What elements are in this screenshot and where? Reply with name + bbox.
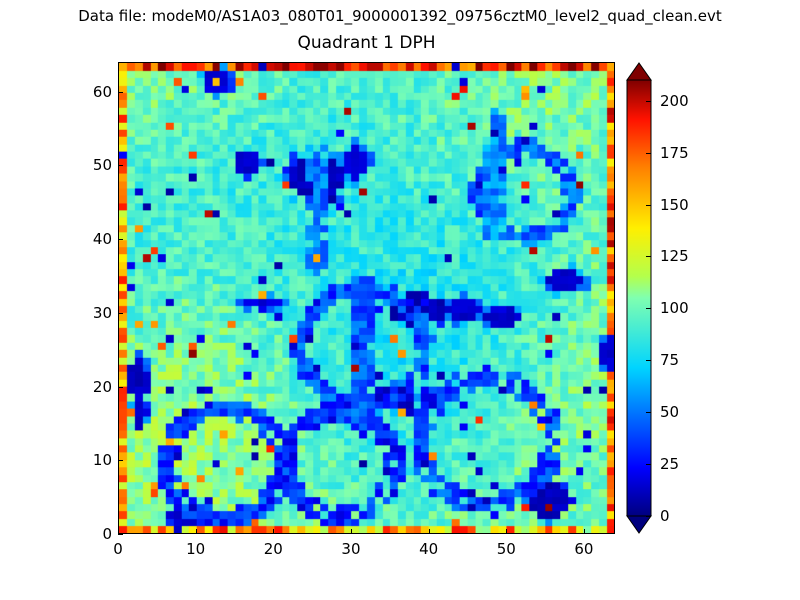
colorbar-tick-label: 75 [660, 351, 679, 369]
y-axis-tickmarks [118, 62, 124, 534]
colorbar-tick-mark [646, 256, 651, 257]
figure-canvas: Data file: modeM0/AS1A03_080T01_90000013… [0, 0, 800, 600]
y-tick-mark [118, 92, 123, 93]
x-tick-mark [118, 529, 119, 534]
x-tick-label: 60 [564, 540, 604, 558]
y-tick-label: 30 [78, 304, 112, 322]
x-axis-labels: 0102030405060 [118, 540, 615, 562]
y-tick-mark [118, 460, 123, 461]
x-tick-mark [506, 529, 507, 534]
colorbar-tick-label: 175 [660, 144, 689, 162]
x-tick-mark [196, 529, 197, 534]
colorbar-tick-mark [646, 360, 651, 361]
x-tick-mark [351, 529, 352, 534]
colorbar-tick-label: 0 [660, 507, 670, 525]
x-tick-label: 30 [331, 540, 371, 558]
colorbar-tick-mark [646, 153, 651, 154]
colorbar-tick-label: 150 [660, 196, 689, 214]
page-title: Quadrant 1 DPH [118, 33, 615, 53]
colorbar-tick-label: 125 [660, 247, 689, 265]
y-tick-label: 40 [78, 230, 112, 248]
x-tick-mark [429, 529, 430, 534]
y-tick-label: 50 [78, 156, 112, 174]
colorbar-tick-mark [646, 101, 651, 102]
y-tick-label: 20 [78, 378, 112, 396]
x-tick-label: 40 [409, 540, 449, 558]
colorbar-tick-label: 25 [660, 455, 679, 473]
y-tick-mark [118, 313, 123, 314]
x-tick-mark [273, 529, 274, 534]
colorbar-tick-mark [646, 308, 651, 309]
y-tick-label: 60 [78, 83, 112, 101]
x-tick-label: 50 [486, 540, 526, 558]
y-axis-labels: 0102030405060 [76, 62, 112, 534]
x-tick-label: 10 [176, 540, 216, 558]
colorbar-tick-label: 50 [660, 403, 679, 421]
colorbar-tick-mark [646, 516, 651, 517]
data-file-title: Data file: modeM0/AS1A03_080T01_90000013… [0, 7, 800, 25]
y-tick-mark [118, 387, 123, 388]
x-tick-mark [584, 529, 585, 534]
x-tick-label: 0 [98, 540, 138, 558]
x-tick-label: 20 [253, 540, 293, 558]
heatmap-plot-area[interactable] [118, 62, 615, 534]
x-axis-tickmarks [118, 529, 615, 535]
detector-pixel-heatmap[interactable] [119, 63, 614, 533]
colorbar-tick-label: 200 [660, 92, 689, 110]
y-tick-label: 10 [78, 451, 112, 469]
y-tick-mark [118, 165, 123, 166]
colorbar-tick-label: 100 [660, 299, 689, 317]
colorbar-tick-mark [646, 464, 651, 465]
colorbar-tick-mark [646, 205, 651, 206]
y-tick-mark [118, 239, 123, 240]
colorbar-tick-mark [646, 412, 651, 413]
colorbar-labels: 0255075100125150175200 [626, 62, 746, 534]
